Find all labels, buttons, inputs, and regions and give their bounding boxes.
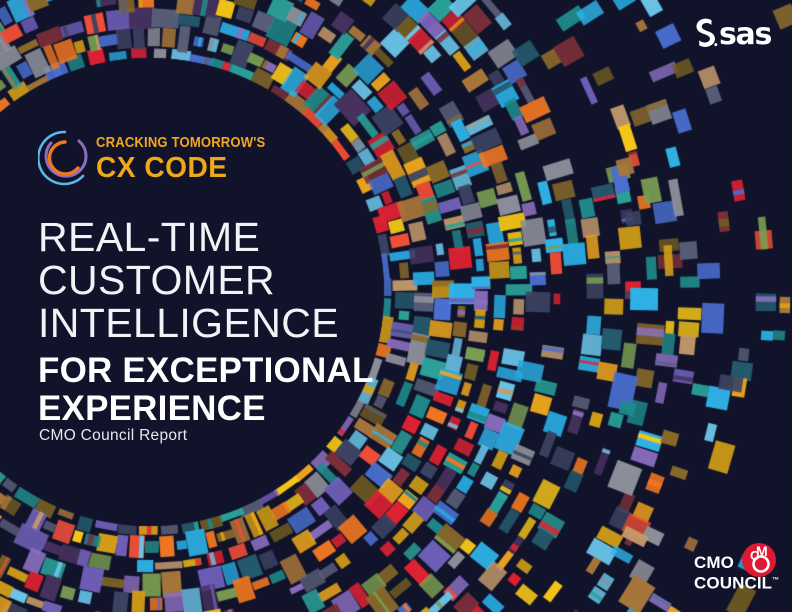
cx-logo-title: CX CODE bbox=[96, 154, 279, 183]
cx-logo-text: CRACKING TOMORROW'S CX CODE bbox=[96, 136, 284, 183]
cmo-council-line-2-text: COUNCIL bbox=[694, 573, 772, 592]
cmo-council-line-1: CMO bbox=[694, 554, 779, 572]
cracking-tomorrows-cx-code-logo: CRACKING TOMORROW'S CX CODE bbox=[38, 127, 243, 193]
page-subtitle: CMO Council Report bbox=[39, 427, 187, 445]
title-line-1: REAL-TIME bbox=[38, 216, 378, 259]
title-line-2: CUSTOMER bbox=[38, 259, 378, 302]
title-line-4: FOR EXCEPTIONAL bbox=[38, 352, 378, 390]
trademark-symbol: ™ bbox=[772, 577, 779, 584]
cmo-council-line-2: COUNCIL™ bbox=[694, 572, 779, 592]
sas-logo: sas bbox=[694, 18, 776, 52]
cmo-council-wordmark: CMO COUNCIL™ bbox=[694, 554, 779, 592]
report-cover-page: sas CRACKING TOMORROW'S CX CODE REAL-TIM… bbox=[0, 0, 792, 612]
concentric-arcs-icon bbox=[38, 129, 92, 192]
page-title: REAL-TIME CUSTOMER INTELLIGENCE FOR EXCE… bbox=[38, 216, 378, 428]
cmo-council-logo: C M CMO COUNCIL™ bbox=[694, 541, 782, 589]
sas-wordmark: sas bbox=[719, 20, 771, 50]
sas-swoosh-icon bbox=[694, 17, 720, 53]
cx-logo-tagline: CRACKING TOMORROW'S bbox=[96, 136, 265, 151]
title-line-3: INTELLIGENCE bbox=[38, 302, 378, 345]
title-line-5: EXPERIENCE bbox=[38, 390, 378, 428]
